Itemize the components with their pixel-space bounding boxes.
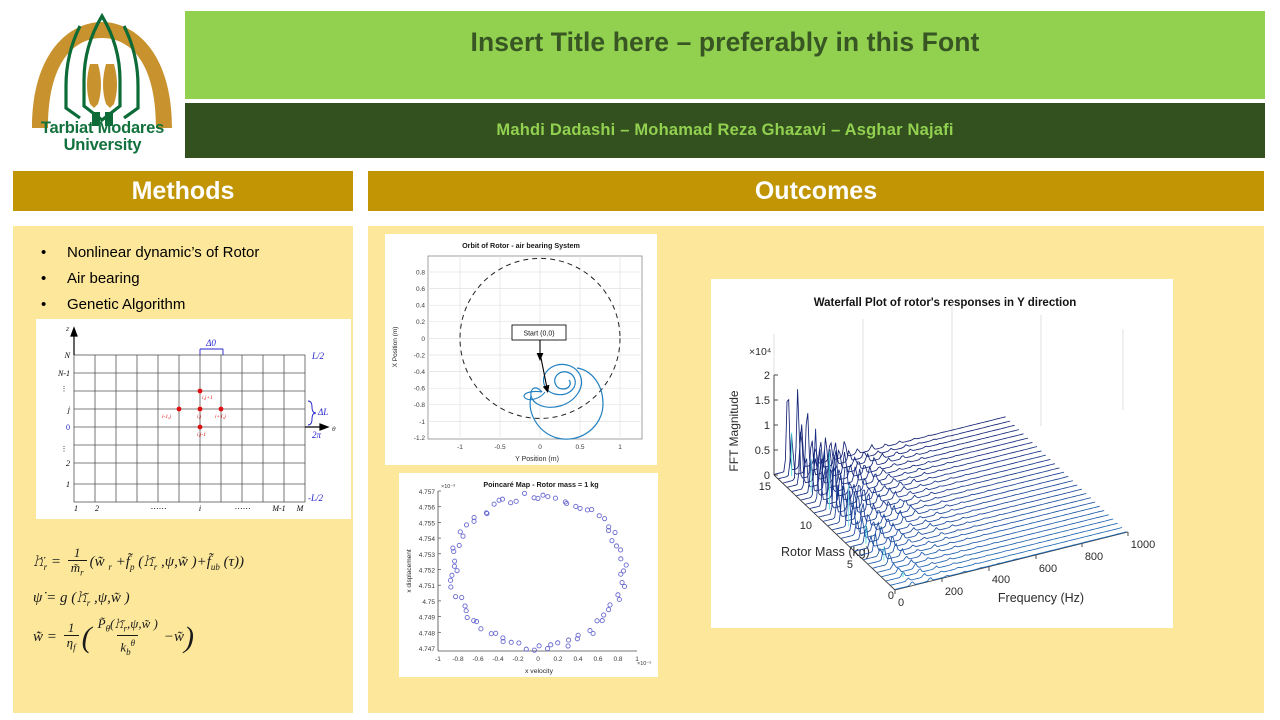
svg-text:2: 2 bbox=[764, 370, 770, 382]
svg-text:4.747: 4.747 bbox=[419, 646, 436, 653]
svg-text:0: 0 bbox=[421, 336, 425, 343]
poincare-y-axis-label: x displacement bbox=[406, 549, 413, 593]
list-item-label: Nonlinear dynamic’s of Rotor bbox=[67, 243, 259, 263]
poincare-y-exponent: ×10⁻³ bbox=[441, 484, 455, 490]
svg-text:-0.2: -0.2 bbox=[414, 352, 426, 359]
svg-text:0: 0 bbox=[898, 597, 904, 609]
logo-wordmark: Tarbiat Modares University bbox=[20, 120, 185, 154]
list-item: • Genetic Algorithm bbox=[41, 295, 341, 315]
svg-text:4.755: 4.755 bbox=[419, 520, 436, 527]
svg-text:N-1: N-1 bbox=[57, 369, 70, 378]
poincare-map: Poincaré Map - Rotor mass = 1 kg ×10⁻³ ×… bbox=[399, 473, 658, 677]
svg-text:0: 0 bbox=[538, 444, 542, 451]
orbit-y-axis-label: X Position (m) bbox=[392, 327, 399, 368]
svg-text:2: 2 bbox=[95, 504, 99, 513]
orbit-x-axis-label: Y Position (m) bbox=[515, 456, 559, 463]
waterfall-z-exponent: ×10⁴ bbox=[749, 346, 771, 358]
svg-text:i-1,j: i-1,j bbox=[162, 414, 171, 420]
svg-text:2π: 2π bbox=[312, 430, 322, 440]
svg-text:θ: θ bbox=[332, 426, 336, 433]
university-arch-logo bbox=[20, 8, 185, 133]
svg-text:0.4: 0.4 bbox=[416, 303, 425, 310]
svg-text:-1: -1 bbox=[457, 444, 463, 451]
logo-line-1: Tarbiat Modares bbox=[20, 120, 185, 137]
svg-text:-L/2: -L/2 bbox=[308, 493, 324, 503]
svg-text:i,j+1: i,j+1 bbox=[202, 395, 213, 401]
svg-text:i,j: i,j bbox=[197, 414, 202, 420]
svg-text:0.5: 0.5 bbox=[575, 444, 584, 451]
list-item: • Nonlinear dynamic’s of Rotor bbox=[41, 243, 341, 263]
methods-bullet-list: • Nonlinear dynamic’s of Rotor • Air bea… bbox=[41, 243, 341, 321]
svg-text:-0.6: -0.6 bbox=[414, 386, 426, 393]
psi-rate-equation: ψ̇ = g (𝚑̃r ,ψ,w̃ ) bbox=[33, 589, 343, 608]
svg-text:-0.2: -0.2 bbox=[512, 656, 524, 663]
svg-text:4.757: 4.757 bbox=[419, 489, 436, 496]
svg-text:0: 0 bbox=[66, 423, 70, 432]
svg-text:L/2: L/2 bbox=[311, 351, 325, 361]
list-item-label: Air bearing bbox=[67, 269, 140, 289]
svg-text:0.2: 0.2 bbox=[416, 319, 425, 326]
svg-text:0.5: 0.5 bbox=[755, 445, 770, 457]
svg-text:4.748: 4.748 bbox=[419, 630, 436, 637]
svg-text:-1.2: -1.2 bbox=[414, 435, 426, 442]
svg-text:1: 1 bbox=[74, 504, 78, 513]
svg-text:-0.4: -0.4 bbox=[414, 369, 426, 376]
rotor-acceleration-equation: 𝚑̈r = 1m̃r (w̃ r +f̃p (𝚑̃r ,ψ,w̃ )+f̃ub … bbox=[33, 546, 343, 580]
svg-text:-0.8: -0.8 bbox=[452, 656, 464, 663]
finite-difference-mesh-diagram: z θ NN-1 j 21 0 ⋮⋮ 12 ⋯⋯ i ⋯⋯ M-1M L/2 bbox=[36, 319, 351, 519]
poster-header: Tarbiat Modares University Insert Title … bbox=[0, 0, 1280, 160]
svg-text:15: 15 bbox=[759, 481, 771, 493]
svg-text:⋯⋯: ⋯⋯ bbox=[150, 504, 166, 513]
orbit-plot-title: Orbit of Rotor - air bearing System bbox=[462, 241, 580, 250]
section-header-outcomes-label: Outcomes bbox=[755, 177, 877, 206]
poster-authors-bar: Mahdi Dadashi – Mohamad Reza Ghazavi – A… bbox=[185, 103, 1265, 158]
methods-panel: • Nonlinear dynamic’s of Rotor • Air bea… bbox=[13, 226, 353, 713]
university-logo: Tarbiat Modares University bbox=[20, 8, 185, 156]
section-header-methods: Methods bbox=[13, 171, 353, 211]
w-rate-equation: w̃̇ = 1ηf ( P̃θ(𝚑̃r,ψ,w̃ ) kbθ −w̃ ) bbox=[33, 617, 343, 660]
svg-text:ΔL: ΔL bbox=[317, 407, 328, 417]
logo-line-2: University bbox=[20, 137, 185, 154]
svg-text:2: 2 bbox=[66, 459, 70, 468]
svg-text:M-1: M-1 bbox=[271, 504, 285, 513]
svg-text:0.8: 0.8 bbox=[613, 656, 622, 663]
svg-text:⋯⋯: ⋯⋯ bbox=[234, 504, 250, 513]
svg-text:4.754: 4.754 bbox=[419, 536, 436, 543]
svg-text:200: 200 bbox=[945, 586, 963, 598]
svg-text:600: 600 bbox=[1039, 563, 1057, 575]
svg-text:N: N bbox=[64, 351, 71, 360]
bullet-marker-icon: • bbox=[41, 295, 67, 315]
governing-equations: 𝚑̈r = 1m̃r (w̃ r +f̃p (𝚑̃r ,ψ,w̃ )+f̃ub … bbox=[33, 546, 343, 668]
svg-text:⋮: ⋮ bbox=[61, 446, 68, 453]
outcomes-panel: Orbit of Rotor - air bearing System 0.80… bbox=[368, 226, 1264, 713]
svg-text:1: 1 bbox=[764, 420, 770, 432]
svg-text:0: 0 bbox=[888, 590, 894, 602]
bullet-marker-icon: • bbox=[41, 243, 67, 263]
svg-text:1.5: 1.5 bbox=[755, 395, 770, 407]
svg-text:0.8: 0.8 bbox=[416, 270, 425, 277]
authors-list: Mahdi Dadashi – Mohamad Reza Ghazavi – A… bbox=[496, 121, 953, 140]
svg-text:⋮: ⋮ bbox=[61, 386, 68, 393]
svg-text:1: 1 bbox=[635, 656, 639, 663]
svg-text:4.75: 4.75 bbox=[422, 599, 435, 606]
svg-text:0.6: 0.6 bbox=[416, 286, 425, 293]
waterfall-y-axis-label: Rotor Mass (kg) bbox=[781, 545, 870, 559]
svg-text:0.2: 0.2 bbox=[553, 656, 562, 663]
svg-text:1: 1 bbox=[618, 444, 622, 451]
svg-text:4.752: 4.752 bbox=[419, 568, 436, 575]
svg-text:5: 5 bbox=[847, 559, 853, 571]
poster-title-bar: Insert Title here – preferably in this F… bbox=[185, 11, 1265, 99]
svg-text:400: 400 bbox=[992, 574, 1010, 586]
section-header-outcomes: Outcomes bbox=[368, 171, 1264, 211]
svg-text:0: 0 bbox=[536, 656, 540, 663]
orbit-plot: Orbit of Rotor - air bearing System 0.80… bbox=[385, 234, 657, 465]
poincare-x-axis-label: x velocity bbox=[525, 668, 554, 675]
svg-text:1000: 1000 bbox=[1131, 539, 1155, 551]
svg-text:i,j-1: i,j-1 bbox=[197, 432, 206, 438]
list-item-label: Genetic Algorithm bbox=[67, 295, 185, 315]
svg-text:-1: -1 bbox=[435, 656, 441, 663]
svg-text:4.751: 4.751 bbox=[419, 583, 436, 590]
svg-text:0.4: 0.4 bbox=[573, 656, 582, 663]
svg-text:-0.6: -0.6 bbox=[472, 656, 484, 663]
svg-text:i: i bbox=[199, 504, 201, 513]
poincare-title: Poincaré Map - Rotor mass = 1 kg bbox=[483, 480, 598, 489]
svg-text:M: M bbox=[296, 504, 305, 513]
svg-text:4.749: 4.749 bbox=[419, 615, 436, 622]
poincare-x-exponent: ×10⁻⁵ bbox=[637, 660, 652, 667]
waterfall-plot: Waterfall Plot of rotor's responses in Y… bbox=[711, 279, 1173, 628]
waterfall-z-axis-label: FFT Magnitude bbox=[727, 390, 741, 471]
section-header-methods-label: Methods bbox=[132, 177, 235, 206]
waterfall-title: Waterfall Plot of rotor's responses in Y… bbox=[814, 297, 1077, 309]
svg-text:-0.5: -0.5 bbox=[494, 444, 506, 451]
svg-text:-1: -1 bbox=[419, 419, 425, 426]
page-title: Insert Title here – preferably in this F… bbox=[471, 27, 980, 84]
svg-text:-0.4: -0.4 bbox=[492, 656, 504, 663]
bullet-marker-icon: • bbox=[41, 269, 67, 289]
waterfall-x-axis-label: Frequency (Hz) bbox=[998, 591, 1084, 605]
svg-text:0.6: 0.6 bbox=[593, 656, 602, 663]
svg-text:1: 1 bbox=[66, 480, 70, 489]
svg-text:Δ0: Δ0 bbox=[205, 338, 216, 348]
svg-text:4.753: 4.753 bbox=[419, 552, 436, 559]
svg-text:i+1,j: i+1,j bbox=[215, 414, 226, 420]
svg-text:10: 10 bbox=[800, 520, 812, 532]
list-item: • Air bearing bbox=[41, 269, 341, 289]
svg-text:800: 800 bbox=[1085, 551, 1103, 563]
svg-text:-0.8: -0.8 bbox=[414, 402, 426, 409]
start-annotation-label: Start (0,0) bbox=[523, 331, 554, 338]
svg-text:4.756: 4.756 bbox=[419, 505, 436, 512]
